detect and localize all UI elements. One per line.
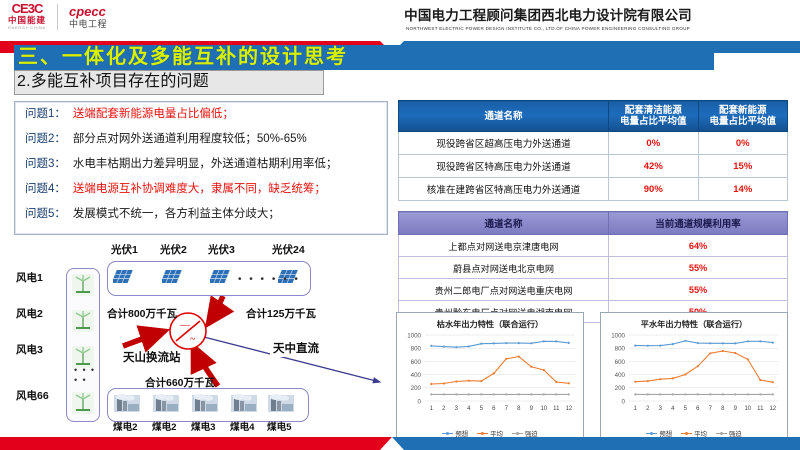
cpecc-mark: cpecc: [69, 5, 107, 18]
chart-svg: 02004006008001000123456789101112: [601, 329, 787, 419]
cell-new: 15%: [698, 155, 787, 178]
coal-plant-label: 煤电3: [191, 419, 216, 433]
svg-text:8: 8: [517, 406, 521, 412]
coal-plant-icon: [153, 392, 179, 414]
svg-text:6: 6: [492, 406, 496, 412]
energy-china-mark: CE3C: [12, 3, 43, 15]
th2-utilization: 当前通道规模利用率: [609, 212, 788, 235]
cell-new: 0%: [698, 132, 787, 155]
slide-header: CE3C 中国能建 ENERGY CHINA cpecc 中电工程 中国电力工程…: [0, 0, 800, 36]
cell-clean: 42%: [609, 155, 698, 178]
pv-plant-label: 光伏24: [272, 242, 305, 257]
table-row: 上都点对网送电京津唐电网64%: [399, 235, 788, 257]
table-header-row: 通道名称 当前通道规模利用率: [399, 212, 788, 235]
footer-band-blue: [392, 437, 800, 450]
cell-name: 核准在建跨省区特高压电力外送通道: [399, 178, 609, 201]
problem-item: 问题3：水电丰枯期出力差异明显，外送通道枯期利用率低；: [15, 152, 387, 177]
pv-capacity-label: 合计125万千瓦: [246, 306, 316, 321]
coal-plant-icon: [192, 392, 218, 414]
svg-text:1: 1: [430, 406, 434, 412]
svg-text:12: 12: [769, 406, 776, 412]
problem-item: 问题4：送端电源互补协调难度大，隶属不同，缺乏统筹；: [15, 177, 387, 202]
cell-name: 蔚县点对网送电北京电网: [399, 257, 609, 279]
wind-turbine-icon: [71, 273, 95, 297]
pv-ellipsis: • • • • • •: [238, 274, 300, 285]
legend-swatch: [512, 433, 523, 434]
coal-plant-label: 煤电5: [267, 419, 292, 433]
dc-line-label: 天中直流: [270, 339, 322, 357]
th-clean-energy-ratio: 配套清洁能源 电量占比平均值: [609, 101, 698, 132]
svg-text:6: 6: [696, 406, 700, 412]
th-new-line1: 配套新能源: [701, 105, 785, 116]
wind-ellipsis: • • • • •: [74, 365, 99, 385]
pv-plant-label: 光伏1: [111, 242, 138, 257]
cell-rate: 55%: [609, 279, 788, 301]
svg-text:800: 800: [615, 346, 626, 353]
cell-name: 现役跨省区特高压电力外送通道: [399, 155, 609, 178]
coal-plant-label: 煤电2: [113, 419, 138, 433]
problem-label: 问题5：: [25, 202, 66, 227]
svg-text:3: 3: [455, 406, 459, 412]
coal-plant-label: 煤电2: [152, 419, 177, 433]
problem-label: 问题2：: [25, 127, 66, 152]
energy-china-logo: CE3C 中国能建 ENERGY CHINA: [8, 3, 46, 31]
pv-plant-label: 光伏2: [160, 242, 187, 257]
company-name-cn: 中国电力工程顾问集团西北电力设计院有限公司: [300, 4, 796, 24]
svg-text:1000: 1000: [611, 332, 625, 339]
svg-text:9: 9: [734, 406, 738, 412]
coal-plant-label: 煤电4: [230, 419, 255, 433]
legend-swatch: [646, 433, 657, 434]
footer-band-notch: [380, 437, 404, 450]
svg-text:4: 4: [671, 406, 675, 412]
svg-text:200: 200: [411, 385, 422, 392]
svg-text:7: 7: [709, 406, 713, 412]
slide-canvas: CE3C 中国能建 ENERGY CHINA cpecc 中电工程 中国电力工程…: [0, 0, 800, 450]
problem-label: 问题1：: [25, 102, 66, 127]
wind-farm-label: 风电2: [16, 306, 43, 321]
company-name-en: NORTHWEST ELECTRIC POWER DESIGN INSTITUT…: [300, 26, 796, 31]
cell-clean: 90%: [609, 178, 698, 201]
problem-text: 送端配套新能源电量占比偏低；: [73, 102, 234, 127]
problem-label: 问题3：: [25, 152, 66, 177]
th-channel-name: 通道名称: [399, 101, 609, 132]
chart-normal-year: 平水年出力特性（联合运行） 02004006008001000123456789…: [600, 312, 788, 442]
cell-name: 贵州二郎电厂点对网送电重庆电网: [399, 279, 609, 301]
company-name-block: 中国电力工程顾问集团西北电力设计院有限公司 NORTHWEST ELECTRIC…: [300, 4, 796, 31]
th2-channel-name: 通道名称: [399, 212, 609, 235]
svg-text:200: 200: [615, 385, 626, 392]
th-clean-line1: 配套清洁能源: [611, 105, 695, 116]
logo-group: CE3C 中国能建 ENERGY CHINA cpecc 中电工程: [8, 3, 107, 31]
svg-text:11: 11: [553, 406, 560, 412]
coal-capacity-label: 合计660万千瓦: [145, 375, 215, 390]
cell-new: 14%: [698, 178, 787, 201]
svg-text:—: —: [179, 320, 191, 331]
svg-text:600: 600: [615, 359, 626, 366]
chart-plot: 02004006008001000123456789101112: [397, 329, 583, 424]
problem-text: 发展模式不统一，各方利益主体分歧大；: [73, 202, 280, 227]
svg-text:~: ~: [190, 334, 196, 345]
problem-text: 水电丰枯期出力差异明显，外送通道枯期利用率低；: [73, 152, 338, 177]
logo-divider: [57, 4, 58, 30]
chart-dry-year: 枯水年出力特性（联合运行） 02004006008001000123456789…: [396, 312, 584, 442]
legend-swatch: [477, 433, 488, 434]
problem-item: 问题2：部分点对网外送通道利用程度较低；50%-65%: [15, 127, 387, 152]
wind-farm-label: 风电3: [16, 342, 43, 357]
clean-energy-ratio-table: 通道名称 配套清洁能源 电量占比平均值 配套新能源 电量占比平均值 现役跨省区超…: [398, 100, 788, 201]
table-row: 核准在建跨省区特高压电力外送通道90%14%: [399, 178, 788, 201]
channel-utilization-table: 通道名称 当前通道规模利用率 上都点对网送电京津唐电网64%蔚县点对网送电北京电…: [398, 211, 788, 323]
chart-svg: 02004006008001000123456789101112: [397, 329, 583, 419]
th-clean-line2: 电量占比平均值: [611, 116, 695, 127]
svg-text:11: 11: [757, 406, 764, 412]
system-diagram: — ~ • • • • • 风电1风电2风电3风电66 光伏1光伏2光伏3光伏2…: [10, 236, 390, 441]
cell-rate: 64%: [609, 235, 788, 257]
svg-text:1: 1: [634, 406, 638, 412]
svg-text:7: 7: [505, 406, 509, 412]
svg-text:1000: 1000: [407, 332, 421, 339]
cell-name: 上都点对网送电京津唐电网: [399, 235, 609, 257]
svg-text:800: 800: [411, 346, 422, 353]
problem-text: 部分点对网外送通道利用程度较低；50%-65%: [73, 127, 307, 152]
chart-plot: 02004006008001000123456789101112: [601, 329, 787, 424]
solar-panel-icon: [113, 267, 135, 287]
cell-clean: 0%: [609, 132, 698, 155]
solar-panel-icon: [210, 267, 232, 287]
svg-text:5: 5: [480, 406, 484, 412]
table-row: 蔚县点对网送电北京电网55%: [399, 257, 788, 279]
legend-swatch: [442, 433, 453, 434]
svg-text:0: 0: [418, 398, 422, 405]
svg-text:10: 10: [540, 406, 547, 412]
svg-text:9: 9: [530, 406, 534, 412]
page-title: 三、一体化及多能互补的设计思考: [18, 44, 348, 70]
svg-text:400: 400: [615, 372, 626, 379]
table-row: 现役跨省区特高压电力外送通道42%15%: [399, 155, 788, 178]
wind-capacity-label: 合计800万千瓦: [107, 306, 177, 321]
solar-panel-icon: [162, 267, 184, 287]
legend-swatch: [716, 433, 727, 434]
legend-swatch: [681, 433, 692, 434]
th-new-line2: 电量占比平均值: [701, 116, 785, 127]
svg-text:2: 2: [442, 406, 446, 412]
cpecc-logo: cpecc 中电工程: [69, 5, 107, 30]
coal-plant-icon: [114, 392, 140, 414]
svg-text:4: 4: [467, 406, 471, 412]
coal-plant-icon: [231, 392, 257, 414]
converter-station-label: 天山换流站: [123, 349, 181, 365]
svg-text:12: 12: [565, 406, 572, 412]
problems-panel: 问题1：送端配套新能源电量占比偏低；问题2：部分点对网外送通道利用程度较低；50…: [14, 101, 388, 235]
cpecc-cn: 中电工程: [69, 18, 107, 30]
th-new-energy-ratio: 配套新能源 电量占比平均值: [698, 101, 787, 132]
cell-rate: 55%: [609, 257, 788, 279]
wind-farm-group: • • • • •: [66, 268, 100, 422]
coal-plant-icon: [268, 392, 294, 414]
svg-text:600: 600: [411, 359, 422, 366]
svg-text:5: 5: [684, 406, 688, 412]
table-row: 贵州二郎电厂点对网送电重庆电网55%: [399, 279, 788, 301]
svg-text:10: 10: [744, 406, 751, 412]
table-header-row: 通道名称 配套清洁能源 电量占比平均值 配套新能源 电量占比平均值: [399, 101, 788, 132]
subtitle-text: 2.多能互补项目存在的问题: [17, 71, 209, 93]
energy-china-en: ENERGY CHINA: [8, 25, 46, 31]
wind-farm-label: 风电66: [16, 388, 49, 403]
pv-plant-label: 光伏3: [208, 242, 235, 257]
cell-name: 现役跨省区超高压电力外送通道: [399, 132, 609, 155]
svg-text:8: 8: [721, 406, 725, 412]
svg-text:0: 0: [622, 398, 626, 405]
problem-item: 问题5：发展模式不统一，各方利益主体分歧大；: [15, 202, 387, 227]
energy-china-cn: 中国能建: [8, 15, 46, 25]
problem-item: 问题1：送端配套新能源电量占比偏低；: [15, 102, 387, 127]
wind-turbine-icon: [71, 391, 95, 415]
wind-farm-label: 风电1: [16, 270, 43, 285]
problem-label: 问题4：: [25, 177, 66, 202]
wind-turbine-icon: [71, 309, 95, 333]
svg-text:3: 3: [659, 406, 663, 412]
footer-band-red: [0, 437, 392, 450]
problem-text: 送端电源互补协调难度大，隶属不同，缺乏统筹；: [73, 177, 326, 202]
svg-text:400: 400: [411, 372, 422, 379]
table-row: 现役跨省区超高压电力外送通道0%0%: [399, 132, 788, 155]
svg-text:2: 2: [646, 406, 650, 412]
